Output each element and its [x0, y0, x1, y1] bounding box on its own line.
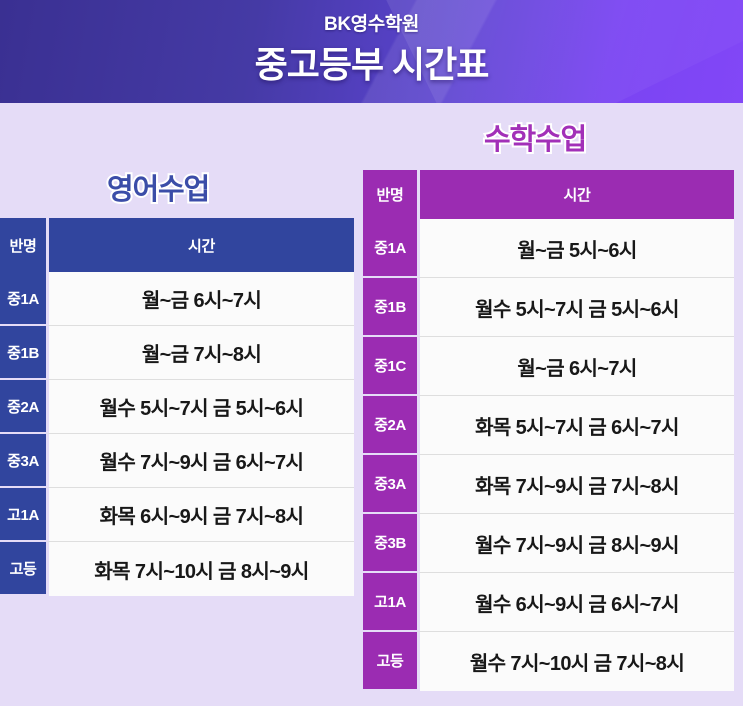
- english-class-name: 중1A: [0, 272, 46, 326]
- english-class-time: 월~금 6시~7시: [46, 272, 354, 326]
- table-row: 고등 화목 7시~10시 금 8시~9시: [0, 542, 354, 596]
- math-table-body: 반명 시간 중1A 월~금 5시~6시 중1B 월수 5시~7시 금 5시~6시…: [363, 170, 734, 691]
- academy-brand-name: BK영수학원: [0, 9, 743, 36]
- english-schedule-table: 반명 시간 중1A 월~금 6시~7시 중1B 월~금 7시~8시 중2A 월수…: [0, 218, 354, 596]
- math-class-time: 화목 5시~7시 금 6시~7시: [417, 396, 734, 455]
- math-section-title: 수학수업: [484, 116, 586, 158]
- math-class-name: 고1A: [363, 573, 417, 632]
- english-section-title: 영어수업: [107, 166, 209, 208]
- math-class-time: 화목 7시~9시 금 7시~8시: [417, 455, 734, 514]
- table-row: 고등 월수 7시~10시 금 7시~8시: [363, 632, 734, 691]
- table-row: 중2A 화목 5시~7시 금 6시~7시: [363, 396, 734, 455]
- math-class-time: 월수 7시~9시 금 8시~9시: [417, 514, 734, 573]
- table-row: 중3A 화목 7시~9시 금 7시~8시: [363, 455, 734, 514]
- table-row: 고1A 화목 6시~9시 금 7시~8시: [0, 488, 354, 542]
- english-header-time: 시간: [46, 218, 354, 272]
- english-table-header-row: 반명 시간: [0, 218, 354, 272]
- math-class-time: 월~금 5시~6시: [417, 219, 734, 278]
- english-class-time: 월수 7시~9시 금 6시~7시: [46, 434, 354, 488]
- math-class-time: 월~금 6시~7시: [417, 337, 734, 396]
- table-row: 중1A 월~금 6시~7시: [0, 272, 354, 326]
- english-class-name: 중2A: [0, 380, 46, 434]
- math-class-name: 중2A: [363, 396, 417, 455]
- english-table-body: 반명 시간 중1A 월~금 6시~7시 중1B 월~금 7시~8시 중2A 월수…: [0, 218, 354, 596]
- math-header-class-name: 반명: [363, 170, 417, 219]
- table-row: 중2A 월수 5시~7시 금 5시~6시: [0, 380, 354, 434]
- english-class-name: 중1B: [0, 326, 46, 380]
- table-row: 중1A 월~금 5시~6시: [363, 219, 734, 278]
- english-class-time: 화목 7시~10시 금 8시~9시: [46, 542, 354, 596]
- table-row: 중3B 월수 7시~9시 금 8시~9시: [363, 514, 734, 573]
- table-row: 중1B 월~금 7시~8시: [0, 326, 354, 380]
- math-class-time: 월수 6시~9시 금 6시~7시: [417, 573, 734, 632]
- math-class-name: 중1B: [363, 278, 417, 337]
- english-header-class-name: 반명: [0, 218, 46, 272]
- math-table-header-row: 반명 시간: [363, 170, 734, 219]
- table-row: 중1B 월수 5시~7시 금 5시~6시: [363, 278, 734, 337]
- english-class-time: 월수 5시~7시 금 5시~6시: [46, 380, 354, 434]
- table-row: 중3A 월수 7시~9시 금 6시~7시: [0, 434, 354, 488]
- english-class-time: 월~금 7시~8시: [46, 326, 354, 380]
- math-class-time: 월수 5시~7시 금 5시~6시: [417, 278, 734, 337]
- page-title: 중고등부 시간표: [0, 36, 743, 88]
- english-class-name: 고등: [0, 542, 46, 596]
- english-class-name: 고1A: [0, 488, 46, 542]
- table-row: 고1A 월수 6시~9시 금 6시~7시: [363, 573, 734, 632]
- math-class-name: 중3B: [363, 514, 417, 573]
- english-class-name: 중3A: [0, 434, 46, 488]
- header-banner: BK영수학원 중고등부 시간표: [0, 0, 743, 103]
- math-class-name: 고등: [363, 632, 417, 691]
- math-header-time: 시간: [417, 170, 734, 219]
- math-schedule-table: 반명 시간 중1A 월~금 5시~6시 중1B 월수 5시~7시 금 5시~6시…: [363, 170, 734, 691]
- math-class-name: 중3A: [363, 455, 417, 514]
- english-class-time: 화목 6시~9시 금 7시~8시: [46, 488, 354, 542]
- math-class-name: 중1C: [363, 337, 417, 396]
- table-row: 중1C 월~금 6시~7시: [363, 337, 734, 396]
- math-class-name: 중1A: [363, 219, 417, 278]
- math-class-time: 월수 7시~10시 금 7시~8시: [417, 632, 734, 691]
